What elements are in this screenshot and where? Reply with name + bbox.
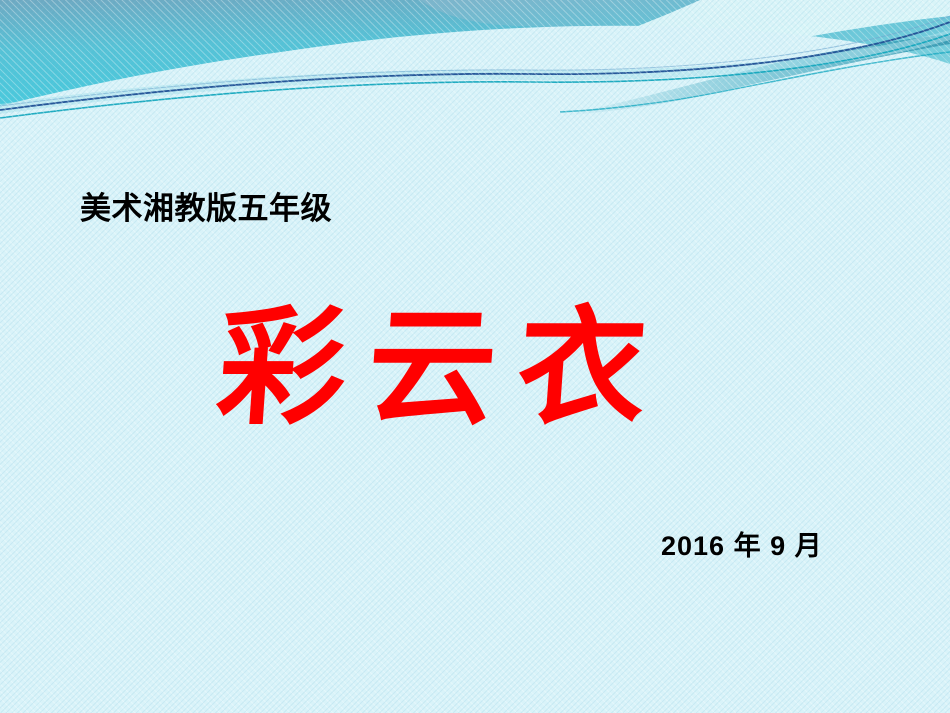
slide-date: 2016 年 9 月 bbox=[661, 524, 823, 563]
slide-subtitle: 美术湘教版五年级 bbox=[80, 183, 332, 228]
slide-title: 彩云衣 bbox=[214, 305, 673, 433]
decorative-wave-banner bbox=[0, 0, 950, 130]
presentation-slide: 美术湘教版五年级 彩云衣 2016 年 9 月 bbox=[0, 0, 950, 713]
